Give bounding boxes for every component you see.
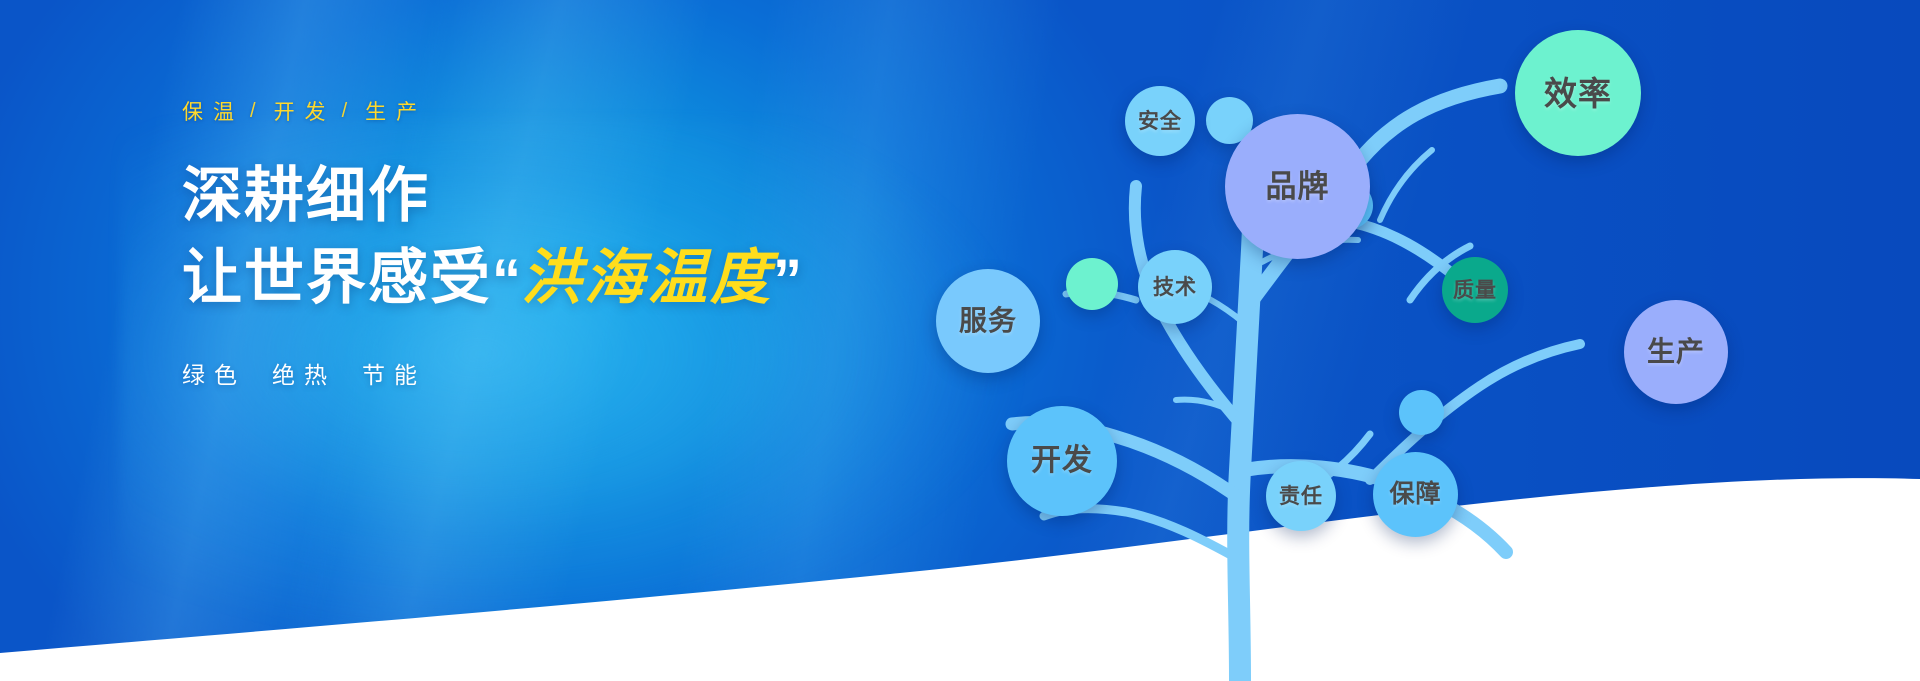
bubble-quality[interactable]: 质量 (1442, 257, 1508, 323)
eyebrow-keywords: 保温 / 开发 / 生产 (182, 96, 942, 126)
subline-item-2: 节能 (362, 362, 426, 388)
bubble-label-efficiency: 效率 (1544, 77, 1612, 110)
eyebrow-item-0: 保温 (182, 96, 244, 126)
bubble-label-development: 开发 (1031, 446, 1093, 476)
headline-line-2: 让世界感受“洪海温度” (182, 242, 942, 316)
bubble-production[interactable]: 生产 (1624, 300, 1728, 404)
bubble-label-technology: 技术 (1153, 277, 1197, 298)
eyebrow-separator-0: / (250, 100, 260, 123)
tree-branches (940, 0, 1920, 681)
bubble-service[interactable]: 服务 (936, 269, 1040, 373)
bubble-brand[interactable]: 品牌 (1225, 114, 1370, 259)
bubble-assurance[interactable]: 保障 (1373, 452, 1458, 537)
bubble-label-duty: 责任 (1279, 486, 1323, 507)
bubble-technology[interactable]: 技术 (1138, 250, 1212, 324)
headline-block: 保温 / 开发 / 生产 深耕细作 让世界感受“洪海温度” 绿色绝热节能 (182, 96, 942, 390)
bubble-development[interactable]: 开发 (1007, 406, 1117, 516)
headline-accent: 洪海温度 (521, 244, 773, 311)
hero-banner: 保温 / 开发 / 生产 深耕细作 让世界感受“洪海温度” 绿色绝热节能 (0, 0, 1920, 681)
bubble-duty[interactable]: 责任 (1266, 461, 1336, 531)
bubble-label-quality: 质量 (1453, 280, 1497, 301)
subline-item-1: 绝热 (272, 362, 336, 388)
bubble-dot-mint-small (1066, 258, 1118, 310)
eyebrow-item-2: 生产 (365, 96, 427, 126)
bubble-safety[interactable]: 安全 (1125, 86, 1195, 156)
headline-line-1: 深耕细作 (182, 160, 942, 232)
bubble-dot-right-low (1399, 390, 1444, 435)
bubble-label-brand: 品牌 (1266, 171, 1330, 202)
bubble-label-production: 生产 (1647, 338, 1705, 366)
bubble-label-service: 服务 (959, 307, 1017, 335)
eyebrow-item-1: 开发 (274, 96, 336, 126)
eyebrow-separator-1: / (342, 100, 352, 123)
page-title: 深耕细作 让世界感受“洪海温度” (182, 160, 942, 316)
bubble-efficiency[interactable]: 效率 (1515, 30, 1641, 156)
bubble-label-assurance: 保障 (1389, 482, 1441, 507)
quote-close: ” (773, 248, 802, 313)
bubble-label-safety: 安全 (1138, 111, 1182, 132)
quote-open: “ (492, 248, 521, 313)
tree-illustration: 服务 品牌 安全 效率 技术 质量 生产 开发 责任 保障 (940, 0, 1920, 681)
headline-line-2-prefix: 让世界感受 (182, 244, 492, 311)
subline-keywords: 绿色绝热节能 (182, 356, 942, 390)
subline-item-0: 绿色 (182, 362, 246, 388)
